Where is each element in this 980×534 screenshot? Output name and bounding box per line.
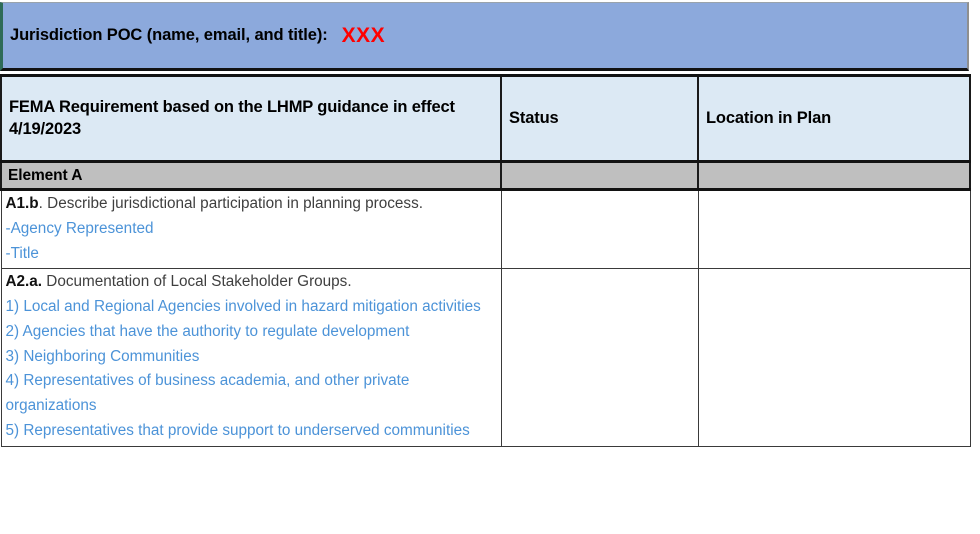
column-header-requirement-label: FEMA Requirement based on the LHMP guida… (2, 97, 500, 141)
requirement-subline: 1) Local and Regional Agencies involved … (6, 295, 498, 320)
column-header-status-label: Status (502, 108, 697, 130)
requirement-subline: 2) Agencies that have the authority to r… (6, 320, 498, 345)
requirement-subline: -Title (6, 242, 498, 267)
status-cell-a1b[interactable] (501, 190, 698, 269)
column-header-location: Location in Plan (698, 76, 970, 162)
status-value-a2a (502, 269, 698, 280)
section-band-status-cell (501, 162, 698, 190)
requirement-description-a1b: . Describe jurisdictional participation … (39, 195, 423, 212)
jurisdiction-poc-row: Jurisdiction POC (name, email, and title… (0, 2, 969, 71)
requirement-subline: -Agency Represented (6, 217, 498, 242)
requirement-code-a1b: A1.b (6, 195, 39, 212)
column-header-location-label: Location in Plan (699, 108, 969, 130)
table-header-row: FEMA Requirement based on the LHMP guida… (1, 76, 970, 162)
requirement-subline: 3) Neighboring Communities (6, 345, 498, 370)
jurisdiction-poc-value[interactable]: XXX (342, 24, 386, 48)
requirement-subline: 5) Representatives that provide support … (6, 419, 498, 444)
section-band-element-a: Element A (1, 162, 970, 190)
location-value-a1b (699, 191, 970, 202)
location-cell-a1b[interactable] (698, 190, 970, 269)
worksheet-canvas: Jurisdiction POC (name, email, and title… (0, 0, 980, 534)
section-band-label: Element A (2, 167, 500, 185)
location-cell-a2a[interactable] (698, 269, 970, 446)
fema-requirements-table: FEMA Requirement based on the LHMP guida… (0, 74, 971, 447)
section-band-location-cell (698, 162, 970, 190)
table-row: A1.b. Describe jurisdictional participat… (1, 190, 970, 269)
location-value-a2a (699, 269, 970, 280)
requirement-text-a1b: A1.b. Describe jurisdictional participat… (2, 191, 501, 268)
table-row: A2.a. Documentation of Local Stakeholder… (1, 269, 970, 446)
column-header-status: Status (501, 76, 698, 162)
column-header-requirement: FEMA Requirement based on the LHMP guida… (1, 76, 501, 162)
status-value-a1b (502, 191, 698, 202)
requirement-cell-a1b: A1.b. Describe jurisdictional participat… (1, 190, 501, 269)
requirement-text-a2a: A2.a. Documentation of Local Stakeholder… (2, 269, 501, 445)
requirement-cell-a2a: A2.a. Documentation of Local Stakeholder… (1, 269, 501, 446)
requirement-code-a2a: A2.a. (6, 273, 43, 290)
requirement-subline: 4) Representatives of business academia,… (6, 369, 498, 419)
section-band-label-cell: Element A (1, 162, 501, 190)
requirement-description-a2a: Documentation of Local Stakeholder Group… (42, 273, 352, 290)
jurisdiction-poc-label: Jurisdiction POC (name, email, and title… (10, 26, 328, 45)
status-cell-a2a[interactable] (501, 269, 698, 446)
